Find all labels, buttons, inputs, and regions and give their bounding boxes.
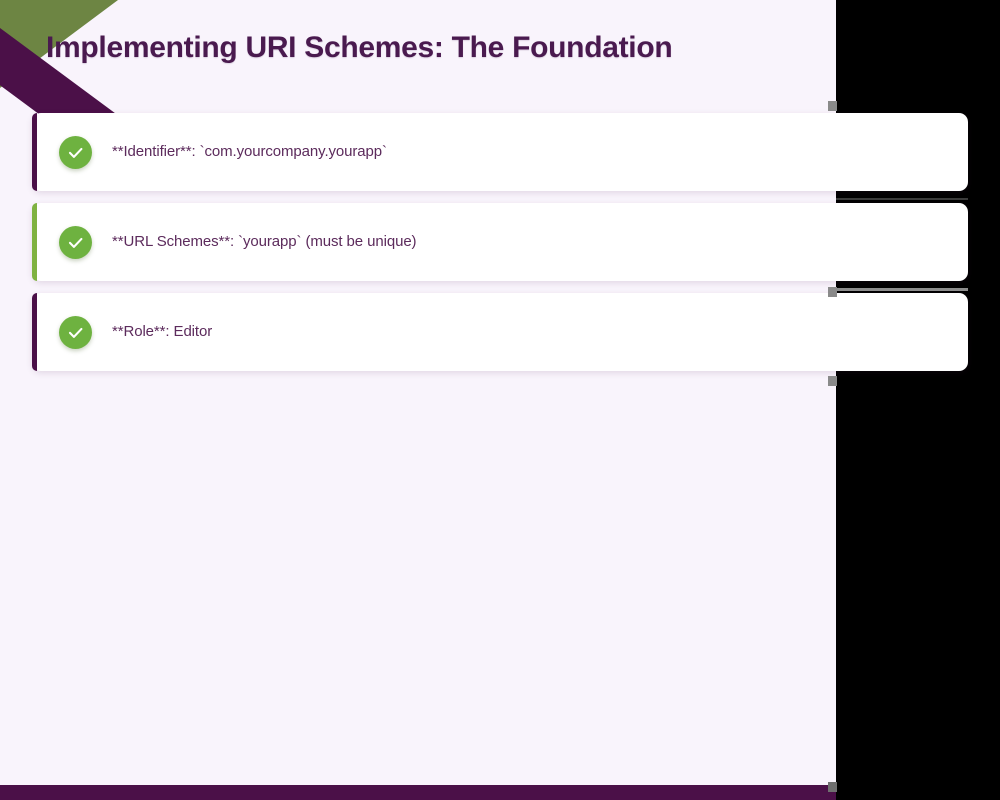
edge-marker — [828, 101, 837, 111]
slide-surface: Implementing URI Schemes: The Foundation… — [0, 0, 836, 800]
check-circle-icon — [59, 226, 92, 259]
list-item[interactable]: **Identifier**: `com.yourcompany.yourapp… — [32, 113, 968, 191]
accent-bar — [32, 203, 37, 281]
gutter-rule — [836, 288, 968, 291]
edge-marker — [828, 287, 837, 297]
list-item[interactable]: **URL Schemes**: `yourapp` (must be uniq… — [32, 203, 968, 281]
accent-bar — [32, 293, 37, 371]
list-item-label: **Role**: Editor — [112, 322, 212, 342]
edge-marker — [828, 376, 837, 386]
gutter-rule — [836, 198, 968, 200]
page-title: Implementing URI Schemes: The Foundation — [46, 30, 806, 66]
check-circle-icon — [59, 136, 92, 169]
check-circle-icon — [59, 316, 92, 349]
accent-bar — [32, 113, 37, 191]
list-item-label: **Identifier**: `com.yourcompany.yourapp… — [112, 142, 387, 162]
footer-bar — [0, 785, 836, 800]
list-item[interactable]: **Role**: Editor — [32, 293, 968, 371]
bullet-list: **Identifier**: `com.yourcompany.yourapp… — [32, 113, 968, 383]
slide-viewport: Implementing URI Schemes: The Foundation… — [0, 0, 1000, 800]
edge-marker — [828, 782, 837, 792]
list-item-label: **URL Schemes**: `yourapp` (must be uniq… — [112, 232, 416, 252]
